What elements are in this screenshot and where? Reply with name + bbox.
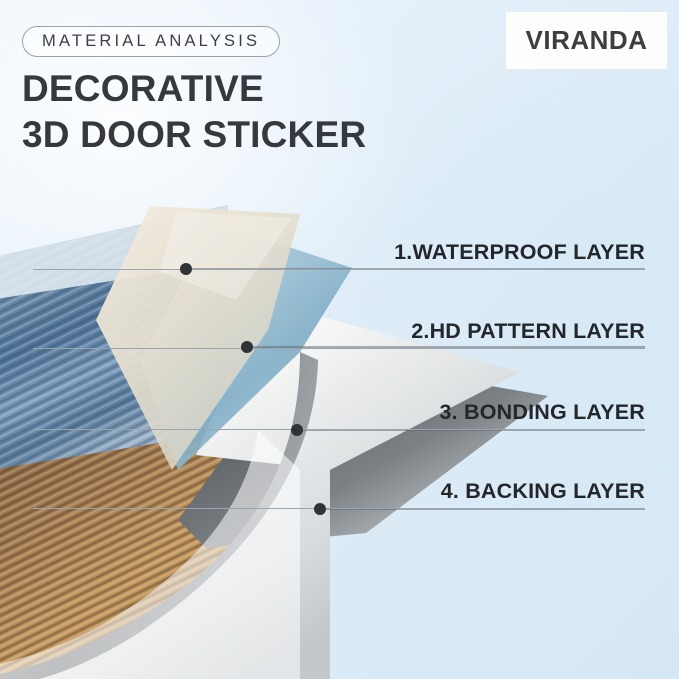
leader-dot-backing bbox=[314, 503, 326, 515]
page-title-line-2: 3D DOOR STICKER bbox=[22, 112, 366, 158]
callout-hd-pattern-layer: 2.HD PATTERN LAYER bbox=[33, 319, 645, 349]
callout-bonding-layer: 3. BONDING LAYER bbox=[33, 400, 645, 430]
callout-rule bbox=[33, 269, 645, 270]
brand-logo: VIRANDA bbox=[506, 12, 667, 69]
eyebrow-badge: MATERIAL ANALYSIS bbox=[22, 26, 280, 57]
callout-rule bbox=[33, 508, 645, 509]
leader-dot-bonding bbox=[291, 424, 303, 436]
leader-dot-hd-pattern bbox=[241, 341, 253, 353]
callout-label: 4. BACKING LAYER bbox=[33, 479, 645, 508]
eyebrow-label: MATERIAL ANALYSIS bbox=[42, 32, 260, 51]
callout-label: 2.HD PATTERN LAYER bbox=[33, 319, 645, 348]
callout-rule bbox=[33, 429, 645, 430]
leader-dot-waterproof bbox=[180, 263, 192, 275]
page-title-line-1: DECORATIVE bbox=[22, 68, 264, 109]
page-title: DECORATIVE 3D DOOR STICKER bbox=[22, 66, 366, 158]
brand-name: VIRANDA bbox=[526, 25, 648, 56]
callout-label: 1.WATERPROOF LAYER bbox=[33, 240, 645, 269]
callout-backing-layer: 4. BACKING LAYER bbox=[33, 479, 645, 509]
callout-rule bbox=[33, 348, 645, 349]
callout-label: 3. BONDING LAYER bbox=[33, 400, 645, 429]
material-analysis-poster: MATERIAL ANALYSIS DECORATIVE 3D DOOR STI… bbox=[0, 0, 679, 679]
callout-waterproof-layer: 1.WATERPROOF LAYER bbox=[33, 240, 645, 270]
